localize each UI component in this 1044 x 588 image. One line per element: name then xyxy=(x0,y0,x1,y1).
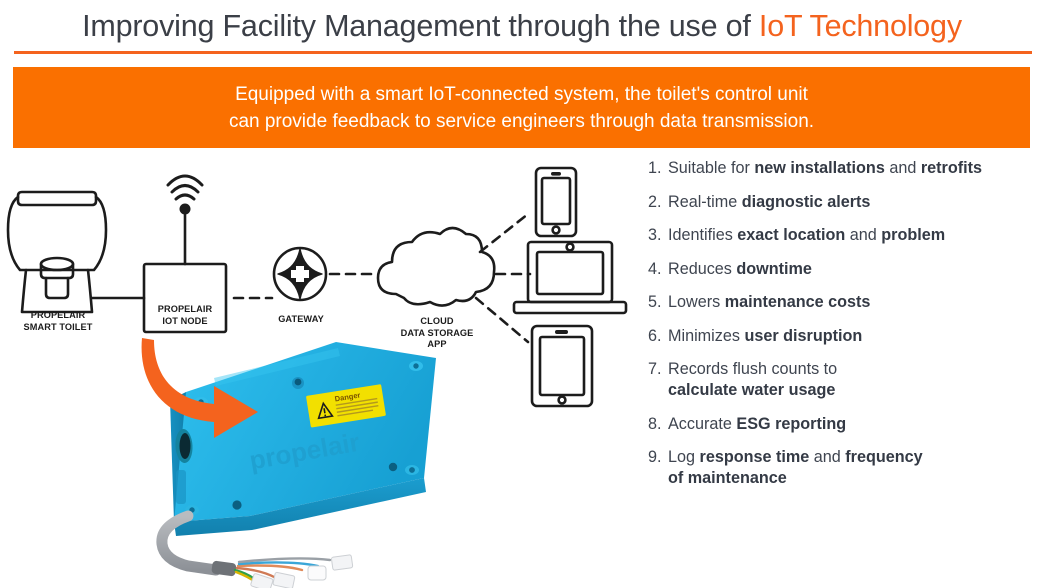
benefit-text: Reduces downtime xyxy=(668,259,1040,280)
benefit-plain: Suitable for xyxy=(668,159,754,177)
benefit-emphasis: ESG reporting xyxy=(736,415,846,433)
page-title: Improving Facility Management through th… xyxy=(0,6,1044,46)
benefits-list: 1.Suitable for new installations and ret… xyxy=(648,158,1040,502)
benefit-text: Suitable for new installations and retro… xyxy=(668,158,1040,179)
benefit-number: 8. xyxy=(648,414,668,435)
benefit-emphasis: problem xyxy=(881,226,945,244)
propelair-control-unit-photo: propelair Danger xyxy=(140,330,480,588)
benefit-number: 5. xyxy=(648,292,668,313)
tablet-icon xyxy=(532,326,592,406)
benefit-line: Minimizes user disruption xyxy=(668,327,862,345)
benefit-text: Identifies exact location and problem xyxy=(668,225,1040,246)
title-bar: Improving Facility Management through th… xyxy=(0,6,1044,46)
benefit-item: 5.Lowers maintenance costs xyxy=(648,292,1040,313)
benefit-emphasis: diagnostic alerts xyxy=(742,193,871,211)
wifi-signal-icon xyxy=(168,176,202,199)
benefit-emphasis: new installations xyxy=(754,159,884,177)
callout-banner: Equipped with a smart IoT-connected syst… xyxy=(13,67,1030,148)
benefit-line: Accurate ESG reporting xyxy=(668,415,846,433)
benefit-plain: Lowers xyxy=(668,293,725,311)
benefit-line: calculate water usage xyxy=(668,380,1040,401)
benefit-plain: and xyxy=(845,226,881,244)
cloud-phone-link xyxy=(480,214,528,252)
label-gateway: GATEWAY xyxy=(258,314,344,326)
benefit-plain: Identifies xyxy=(668,226,737,244)
benefit-line: Records flush counts to xyxy=(668,360,837,378)
benefit-emphasis: calculate water usage xyxy=(668,381,835,399)
benefit-line: Real-time diagnostic alerts xyxy=(668,193,870,211)
slide-root: Improving Facility Management through th… xyxy=(0,0,1044,588)
benefit-line: Identifies exact location and problem xyxy=(668,226,945,244)
smart-toilet-icon xyxy=(8,192,106,312)
benefit-line: Suitable for new installations and retro… xyxy=(668,159,982,177)
benefit-number: 7. xyxy=(648,359,668,380)
benefit-plain: Minimizes xyxy=(668,327,744,345)
benefit-number: 1. xyxy=(648,158,668,179)
benefit-emphasis: response time xyxy=(700,448,810,466)
laptop-icon xyxy=(514,242,626,313)
cloud-icon xyxy=(378,228,494,306)
benefit-text: Lowers maintenance costs xyxy=(668,292,1040,313)
benefit-item: 4.Reduces downtime xyxy=(648,259,1040,280)
benefit-emphasis: exact location xyxy=(737,226,845,244)
benefit-plain: and xyxy=(885,159,921,177)
benefit-item: 8.Accurate ESG reporting xyxy=(648,414,1040,435)
device-photo-svg: propelair Danger xyxy=(140,330,480,588)
benefit-plain: and xyxy=(809,448,845,466)
benefit-item: 7.Records flush counts tocalculate water… xyxy=(648,359,1040,401)
benefit-item: 9.Log response time and frequencyof main… xyxy=(648,447,1040,489)
benefit-text: Real-time diagnostic alerts xyxy=(668,192,1040,213)
benefit-number: 4. xyxy=(648,259,668,280)
benefit-emphasis: frequency xyxy=(845,448,922,466)
benefit-item: 1.Suitable for new installations and ret… xyxy=(648,158,1040,179)
benefit-plain: Log xyxy=(668,448,700,466)
benefit-number: 2. xyxy=(648,192,668,213)
banner-line-2: can provide feedback to service engineer… xyxy=(229,108,814,135)
title-divider-rule xyxy=(14,51,1032,54)
benefit-plain: Records flush counts to xyxy=(668,360,837,378)
benefit-text: Accurate ESG reporting xyxy=(668,414,1040,435)
benefit-emphasis: user disruption xyxy=(744,327,862,345)
page-title-accent: IoT Technology xyxy=(759,9,962,43)
benefit-item: 2.Real-time diagnostic alerts xyxy=(648,192,1040,213)
benefit-number: 9. xyxy=(648,447,668,468)
benefit-plain: Accurate xyxy=(668,415,736,433)
label-smart-toilet: PROPELAIR SMART TOILET xyxy=(4,310,112,333)
label-iot-node: PROPELAIR IOT NODE xyxy=(132,304,238,327)
benefit-number: 3. xyxy=(648,225,668,246)
benefit-number: 6. xyxy=(648,326,668,347)
benefit-plain: Reduces xyxy=(668,260,736,278)
smartphone-icon xyxy=(536,168,576,236)
gateway-icon xyxy=(274,248,326,300)
benefit-line: Lowers maintenance costs xyxy=(668,293,870,311)
benefit-line: of maintenance xyxy=(668,468,1040,489)
benefit-emphasis: retrofits xyxy=(921,159,982,177)
benefit-item: 3.Identifies exact location and problem xyxy=(648,225,1040,246)
benefit-text: Minimizes user disruption xyxy=(668,326,1040,347)
benefit-emphasis: maintenance costs xyxy=(725,293,871,311)
benefit-plain: Real-time xyxy=(668,193,742,211)
benefit-text: Log response time and frequencyof mainte… xyxy=(668,447,1040,489)
banner-line-1: Equipped with a smart IoT-connected syst… xyxy=(235,81,808,108)
benefit-line: Reduces downtime xyxy=(668,260,812,278)
page-title-prefix: Improving Facility Management through th… xyxy=(82,9,759,43)
benefit-item: 6.Minimizes user disruption xyxy=(648,326,1040,347)
benefit-line: Log response time and frequency xyxy=(668,448,923,466)
benefit-text: Records flush counts tocalculate water u… xyxy=(668,359,1040,401)
benefit-emphasis: downtime xyxy=(736,260,812,278)
benefit-emphasis: of maintenance xyxy=(668,469,787,487)
